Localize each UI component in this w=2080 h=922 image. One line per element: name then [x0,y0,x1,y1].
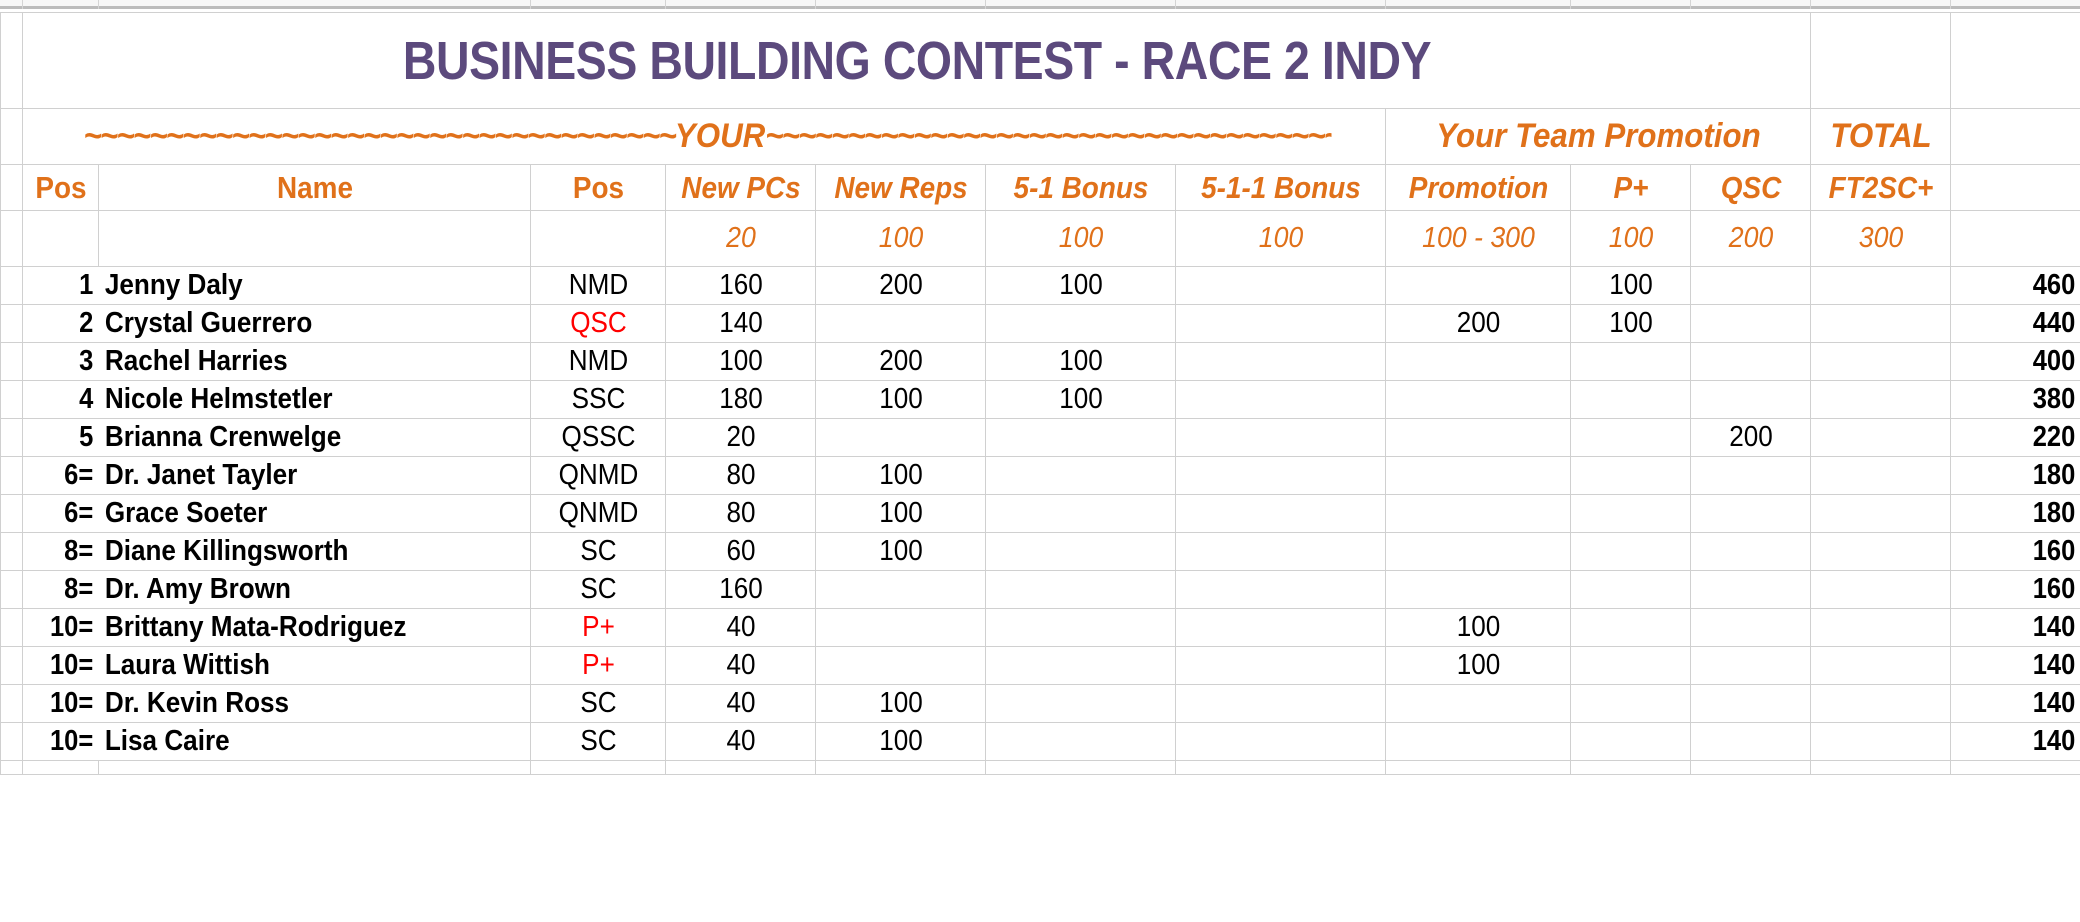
cell-name: Brianna Crenwelge [99,419,488,457]
ruler-tick [985,0,986,9]
cell-new-pcs: 160 [673,267,808,305]
cell-new-reps [824,305,977,343]
table-row[interactable]: 8=Dr. Amy BrownSC160160 [1,571,2080,609]
points-promotion: 100 - 300 [1393,211,1563,267]
points-new-pcs: 20 [672,211,810,267]
empty-cell [99,761,531,775]
cell-ft2sc [1818,495,1944,533]
ruler-tick [530,0,531,9]
cell-ft2sc [1818,685,1944,723]
ruler-tick [1175,0,1176,9]
cell-p-plus [1577,495,1685,533]
cell-qsc [1697,305,1805,343]
cell-5-1-bonus [995,419,1166,457]
cell-name: Jenny Daly [99,267,488,305]
cell-total: 160 [1966,533,2080,571]
cell-promotion [1395,685,1562,723]
cell-ft2sc [1818,419,1944,457]
cell-qsc [1697,495,1805,533]
points-qsc: 200 [1695,211,1805,267]
cell-5-1-bonus [995,571,1166,609]
table-row[interactable]: 4Nicole HelmstetlerSSC180100100380 [1,381,2080,419]
table-row[interactable]: 2Crystal GuerreroQSC140200100440 [1,305,2080,343]
ruler-tick [1570,0,1571,9]
cell-new-pcs: 160 [673,571,808,609]
cell-5-1-1-bonus [1186,419,1375,457]
cell-ft2sc [1818,305,1944,343]
col-header-new-reps[interactable]: New Reps [824,165,977,211]
cell-new-pcs: 40 [673,609,808,647]
empty-cell [1386,761,1571,775]
cell-name: Crystal Guerrero [99,305,488,343]
cell-rank: QNMD [537,457,659,495]
cell-new-pcs: 40 [673,647,808,685]
cell-rank: SC [537,723,659,761]
cell-5-1-1-bonus [1186,495,1375,533]
cell-position: 8= [32,571,99,609]
empty-cell [1,761,23,775]
group-header-your: ~~~~~~~~~~~~~~~~~~~~~~~~~~~~~~~~~~~~YOUR… [77,109,1331,165]
empty-cell [531,761,666,775]
cell-total: 140 [1966,647,2080,685]
ruler-tick [22,0,23,9]
col-header-promotion[interactable]: Promotion [1395,165,1562,211]
col-header-new-pcs[interactable]: New PCs [673,165,808,211]
cell-new-reps: 100 [824,723,977,761]
table-row[interactable]: 10=Lisa CaireSC40100140 [1,723,2080,761]
table-row[interactable]: 6=Grace SoeterQNMD80100180 [1,495,2080,533]
cell-new-pcs: 40 [673,685,808,723]
cell-ft2sc [1818,381,1944,419]
cell-p-plus: 100 [1577,267,1685,305]
row-gutter-cell [1,165,23,211]
points-pos [26,211,96,267]
empty-cell [1951,761,2080,775]
ruler-tick [1385,0,1386,9]
title-spacer-cell [1811,13,1951,109]
cell-name: Dr. Janet Tayler [99,457,488,495]
cell-rank: NMD [537,343,659,381]
cell-promotion: 100 [1395,647,1562,685]
ruler-tick [1690,0,1691,9]
row-gutter-cell [1,609,23,647]
spreadsheet-contest-leaderboard: BUSINESS BUILDING CONTEST - RACE 2 INDY … [0,0,2080,922]
cell-qsc [1697,609,1805,647]
cell-5-1-1-bonus [1186,723,1375,761]
cell-position: 10= [32,647,99,685]
empty-cell [1571,761,1691,775]
row-gutter-cell [1,305,23,343]
table-row[interactable]: 3Rachel HarriesNMD100200100400 [1,343,2080,381]
cell-new-reps: 100 [824,457,977,495]
cell-promotion: 200 [1395,305,1562,343]
cell-rank: P+ [537,609,659,647]
cell-5-1-1-bonus [1186,685,1375,723]
cell-ft2sc [1818,533,1944,571]
cell-total: 160 [1966,571,2080,609]
col-header-5-1-1-bonus[interactable]: 5-1-1 Bonus [1186,165,1375,211]
cell-position: 4 [32,381,99,419]
cell-new-reps: 200 [824,267,977,305]
cell-p-plus [1577,381,1685,419]
row-gutter-cell [1,685,23,723]
cell-promotion [1395,495,1562,533]
cell-name: Rachel Harries [99,343,488,381]
row-gutter-cell [1,267,23,305]
cell-5-1-bonus [995,495,1166,533]
cell-name: Laura Wittish [99,647,488,685]
cell-new-reps: 100 [824,533,977,571]
tilde-decoration-right: ~~~~~~~~~~~~~~~~~~~~~~~~~~~~~~~~~~~~~~~~… [765,117,1331,155]
cell-total: 140 [1966,609,2080,647]
cell-p-plus [1577,457,1685,495]
empty-cell [1176,761,1386,775]
table-row[interactable]: 5Brianna CrenwelgeQSSC20200220 [1,419,2080,457]
empty-cell [816,761,986,775]
cell-ft2sc [1818,723,1944,761]
group-header-team-promotion: Your Team Promotion [1403,109,1794,165]
cell-ft2sc [1818,457,1944,495]
ruler-tick [98,0,99,9]
cell-5-1-1-bonus [1186,609,1375,647]
points-name [116,211,513,267]
points-total [1956,211,2076,267]
cell-position: 6= [32,457,99,495]
points-ft2sc: 300 [1816,211,1945,267]
cell-5-1-bonus [995,685,1166,723]
points-new-reps: 100 [822,211,978,267]
cell-qsc: 200 [1697,419,1805,457]
cell-rank: SC [537,533,659,571]
cell-position: 10= [32,723,99,761]
cell-promotion [1395,381,1562,419]
cell-name: Lisa Caire [99,723,488,761]
cell-total: 440 [1966,305,2080,343]
cell-new-reps [824,571,977,609]
cell-position: 6= [32,495,99,533]
cell-ft2sc [1818,343,1944,381]
cell-total: 460 [1966,267,2080,305]
cell-rank: QSC [537,305,659,343]
cell-5-1-bonus [995,305,1166,343]
col-header-total-blank[interactable] [1957,165,2074,211]
points-5-1-bonus: 100 [993,211,1168,267]
ruler-tick [815,0,816,9]
cell-p-plus: 100 [1577,305,1685,343]
cell-new-reps [824,419,977,457]
row-gutter-cell [1,343,23,381]
column-ruler-strip [0,0,2080,9]
cell-new-pcs: 140 [673,305,808,343]
empty-cell [23,761,99,775]
table-row[interactable]: 8=Diane KillingsworthSC60100160 [1,533,2080,571]
cell-name: Dr. Kevin Ross [99,685,488,723]
cell-5-1-1-bonus [1186,571,1375,609]
title-spacer-cell [1951,13,2080,109]
cell-total: 380 [1966,381,2080,419]
row-gutter-cell [1,495,23,533]
cell-new-reps: 100 [824,685,977,723]
cell-promotion [1395,571,1562,609]
cell-name: Grace Soeter [99,495,488,533]
cell-total: 180 [1966,457,2080,495]
cell-new-pcs: 180 [673,381,808,419]
cell-ft2sc [1818,571,1944,609]
cell-position: 2 [32,305,99,343]
cell-new-pcs: 100 [673,343,808,381]
cell-5-1-1-bonus [1186,647,1375,685]
cell-name: Nicole Helmstetler [99,381,488,419]
cell-total: 140 [1966,685,2080,723]
cell-qsc [1697,685,1805,723]
cell-name: Dr. Amy Brown [99,571,488,609]
cell-name: Brittany Mata-Rodriguez [99,609,488,647]
cell-qsc [1697,571,1805,609]
table-row-partial [1,761,2080,775]
cell-p-plus [1577,685,1685,723]
cell-qsc [1697,533,1805,571]
cell-ft2sc [1818,609,1944,647]
cell-p-plus [1577,723,1685,761]
ruler-tick [665,0,666,9]
cell-qsc [1697,381,1805,419]
row-end-gutter-cell [1951,109,2080,165]
ruler-tick [1810,0,1811,9]
cell-5-1-bonus: 100 [995,267,1166,305]
row-gutter-cell [1,723,23,761]
cell-new-reps: 100 [824,495,977,533]
empty-cell [1811,761,1951,775]
cell-new-reps: 200 [824,343,977,381]
col-header-rank[interactable]: Pos [537,165,659,211]
points-rank [536,211,660,267]
row-gutter-cell [1,647,23,685]
cell-5-1-bonus [995,533,1166,571]
cell-position: 10= [32,609,99,647]
cell-name: Diane Killingsworth [99,533,488,571]
row-gutter-cell [1,109,23,165]
cell-total: 140 [1966,723,2080,761]
cell-rank: SC [537,571,659,609]
contest-table: BUSINESS BUILDING CONTEST - RACE 2 INDY … [0,12,2080,775]
row-gutter-cell [1,381,23,419]
row-gutter-cell [1,419,23,457]
cell-qsc [1697,267,1805,305]
col-header-p-plus[interactable]: P+ [1577,165,1685,211]
cell-5-1-1-bonus [1186,533,1375,571]
cell-new-pcs: 40 [673,723,808,761]
col-header-pos[interactable]: Pos [26,165,94,211]
group-header-your-label: YOUR [674,117,764,155]
col-header-5-1-bonus[interactable]: 5-1 Bonus [995,165,1166,211]
cell-5-1-1-bonus [1186,381,1375,419]
empty-cell [1691,761,1811,775]
cell-p-plus [1577,343,1685,381]
cell-promotion [1395,419,1562,457]
cell-promotion: 100 [1395,609,1562,647]
cell-position: 8= [32,533,99,571]
cell-rank: NMD [537,267,659,305]
points-5-1-1-bonus: 100 [1184,211,1377,267]
cell-total: 180 [1966,495,2080,533]
cell-5-1-1-bonus [1186,267,1375,305]
cell-position: 10= [32,685,99,723]
cell-rank: SSC [537,381,659,419]
cell-new-pcs: 80 [673,495,808,533]
cell-ft2sc [1818,647,1944,685]
cell-5-1-1-bonus [1186,343,1375,381]
row-gutter-cell [1,533,23,571]
cell-total: 400 [1966,343,2080,381]
cell-5-1-1-bonus [1186,305,1375,343]
cell-qsc [1697,723,1805,761]
cell-5-1-bonus [995,457,1166,495]
cell-p-plus [1577,647,1685,685]
cell-position: 5 [32,419,99,457]
cell-5-1-bonus: 100 [995,381,1166,419]
cell-promotion [1395,533,1562,571]
row-gutter-cell [1,571,23,609]
row-gutter-cell [1,211,23,267]
cell-qsc [1697,647,1805,685]
cell-new-reps [824,609,977,647]
cell-qsc [1697,343,1805,381]
tilde-decoration-left: ~~~~~~~~~~~~~~~~~~~~~~~~~~~~~~~~~~~~ [83,117,674,155]
cell-position: 3 [32,343,99,381]
cell-qsc [1697,457,1805,495]
table-row[interactable]: 1Jenny DalyNMD160200100100460 [1,267,2080,305]
cell-ft2sc [1818,267,1944,305]
table-row[interactable]: 10=Dr. Kevin RossSC40100140 [1,685,2080,723]
cell-p-plus [1577,419,1685,457]
cell-5-1-bonus: 100 [995,343,1166,381]
cell-5-1-bonus [995,647,1166,685]
empty-cell [986,761,1176,775]
cell-5-1-1-bonus [1186,457,1375,495]
col-header-ft2sc[interactable]: FT2SC+ [1818,165,1944,211]
row-gutter-cell [1,457,23,495]
ruler-tick [1950,0,1951,9]
cell-new-pcs: 60 [673,533,808,571]
group-header-row: ~~~~~~~~~~~~~~~~~~~~~~~~~~~~~~~~~~~~YOUR… [1,109,2080,165]
cell-p-plus [1577,533,1685,571]
cell-new-reps [824,647,977,685]
points-p-plus: 100 [1575,211,1685,267]
empty-cell [666,761,816,775]
cell-new-pcs: 20 [673,419,808,457]
group-header-total: TOTAL [1816,109,1945,165]
cell-promotion [1395,723,1562,761]
cell-new-pcs: 80 [673,457,808,495]
col-header-name[interactable]: Name [120,165,509,211]
cell-5-1-bonus [995,723,1166,761]
column-header-row: Pos Name Pos New PCs New Reps 5-1 Bonus … [1,165,2080,211]
cell-5-1-bonus [995,609,1166,647]
cell-p-plus [1577,609,1685,647]
col-header-qsc[interactable]: QSC [1697,165,1805,211]
points-value-row: 20 100 100 100 100 - 300 100 200 300 [1,211,2080,267]
table-row[interactable]: 10=Brittany Mata-RodriguezP+40100140 [1,609,2080,647]
cell-rank: QSSC [537,419,659,457]
cell-promotion [1395,343,1562,381]
cell-rank: QNMD [537,495,659,533]
title-row: BUSINESS BUILDING CONTEST - RACE 2 INDY [1,13,2080,109]
row-gutter-cell [1,13,23,109]
table-row[interactable]: 6=Dr. Janet TaylerQNMD80100180 [1,457,2080,495]
cell-p-plus [1577,571,1685,609]
cell-promotion [1395,457,1562,495]
cell-position: 1 [32,267,99,305]
cell-rank: SC [537,685,659,723]
cell-total: 220 [1966,419,2080,457]
page-title: BUSINESS BUILDING CONTEST - RACE 2 INDY [148,13,1686,109]
table-row[interactable]: 10=Laura WittishP+40100140 [1,647,2080,685]
cell-new-reps: 100 [824,381,977,419]
cell-promotion [1395,267,1562,305]
cell-rank: P+ [537,647,659,685]
